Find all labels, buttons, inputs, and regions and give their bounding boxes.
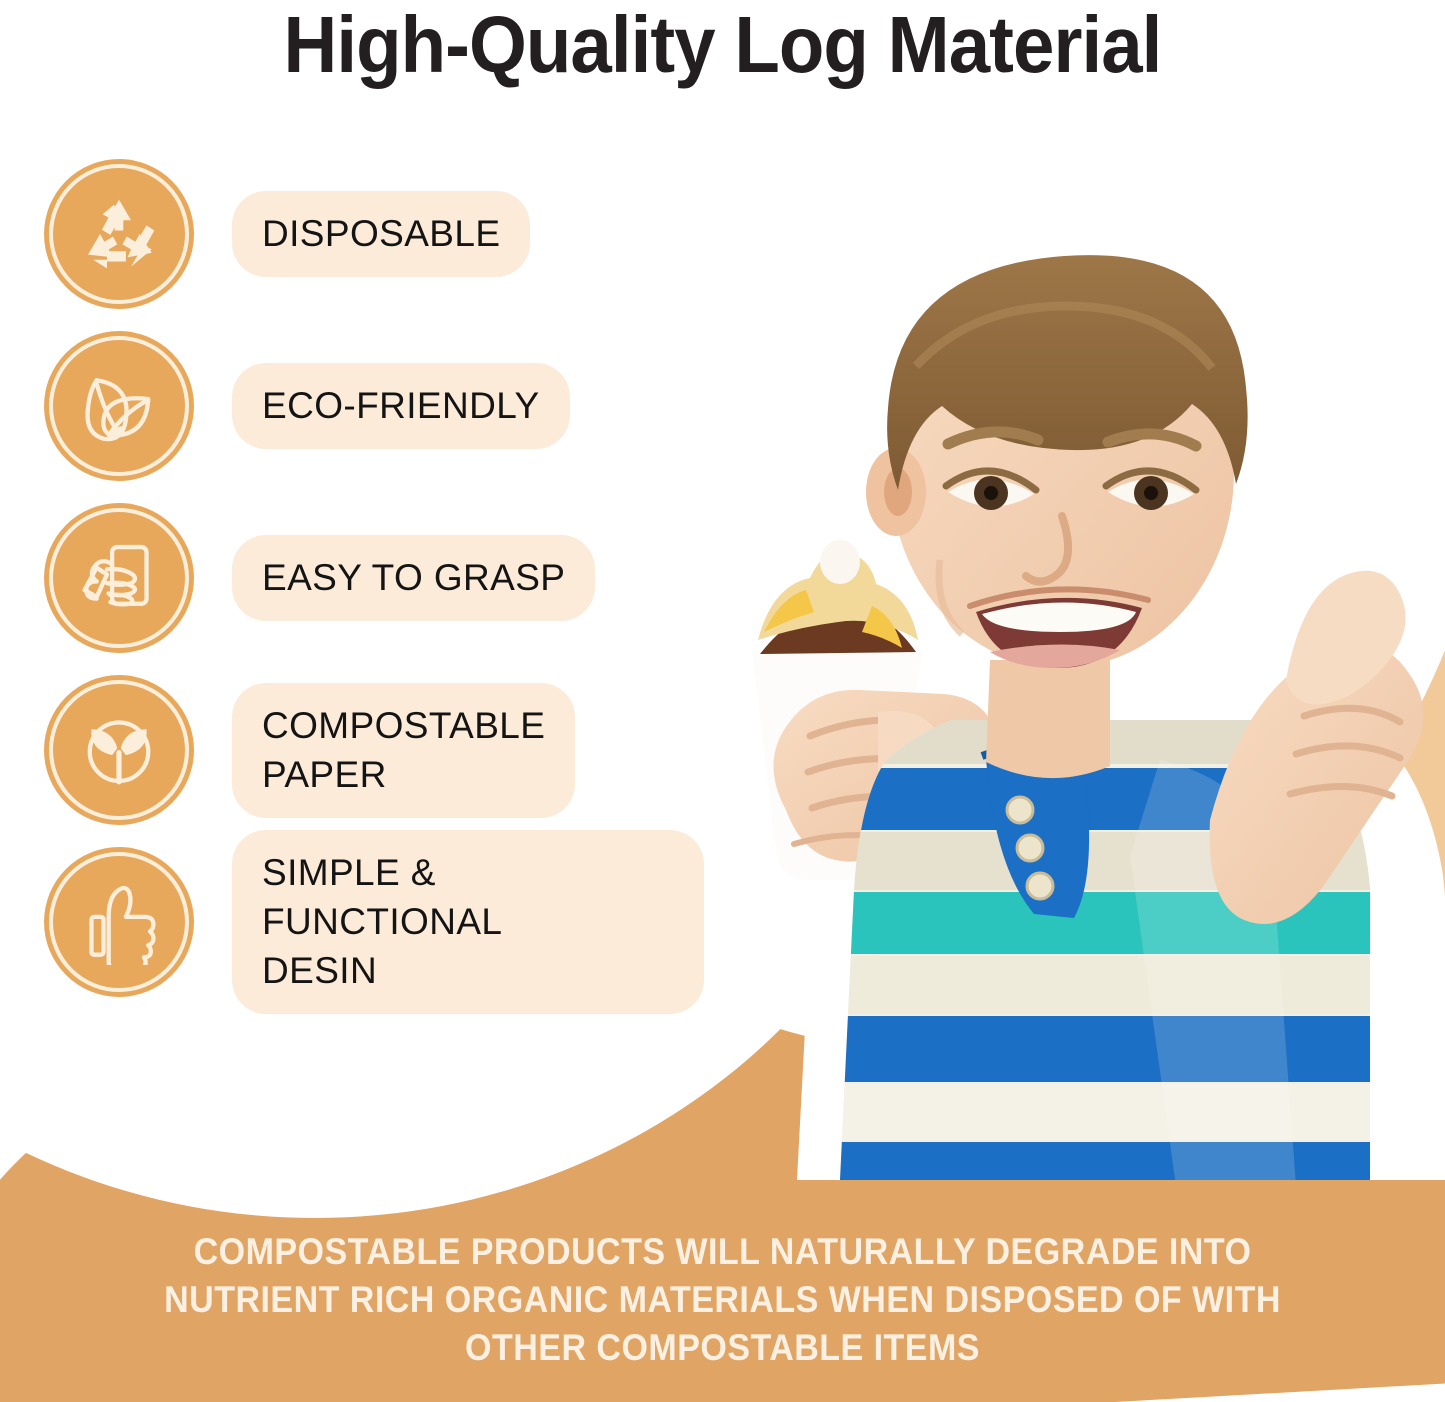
feature-item: DISPOSABLE <box>44 148 704 320</box>
product-infographic: High-Quality Log Material <box>0 0 1445 1402</box>
feature-label: EASY TO GRASP <box>232 535 595 621</box>
feature-label: COMPOSTABLE PAPER <box>232 683 575 818</box>
hand-grasp-icon <box>44 503 194 653</box>
recycle-icon <box>44 159 194 309</box>
feature-item: ECO-FRIENDLY <box>44 320 704 492</box>
compostable-caption: COMPOSTABLE PRODUCTS WILL NATURALLY DEGR… <box>58 1228 1387 1372</box>
feature-label: DISPOSABLE <box>232 191 530 277</box>
leaves-icon <box>44 331 194 481</box>
feature-list: DISPOSABLE ECO-FRIENDLY <box>44 148 704 1008</box>
thumbs-up-icon <box>44 847 194 997</box>
sprout-icon <box>44 675 194 825</box>
product-photo-boy <box>690 120 1445 1180</box>
caption-line-3: OTHER COMPOSTABLE ITEMS <box>145 1324 1300 1372</box>
caption-line-1: COMPOSTABLE PRODUCTS WILL NATURALLY DEGR… <box>145 1228 1300 1276</box>
caption-line-2: NUTRIENT RICH ORGANIC MATERIALS WHEN DIS… <box>145 1276 1300 1324</box>
feature-label: SIMPLE & FUNCTIONAL DESIN <box>232 830 704 1014</box>
feature-item: SIMPLE & FUNCTIONAL DESIN <box>44 836 704 1008</box>
feature-label: ECO-FRIENDLY <box>232 363 570 449</box>
feature-item: COMPOSTABLE PAPER <box>44 664 704 836</box>
page-title: High-Quality Log Material <box>51 2 1395 88</box>
feature-item: EASY TO GRASP <box>44 492 704 664</box>
